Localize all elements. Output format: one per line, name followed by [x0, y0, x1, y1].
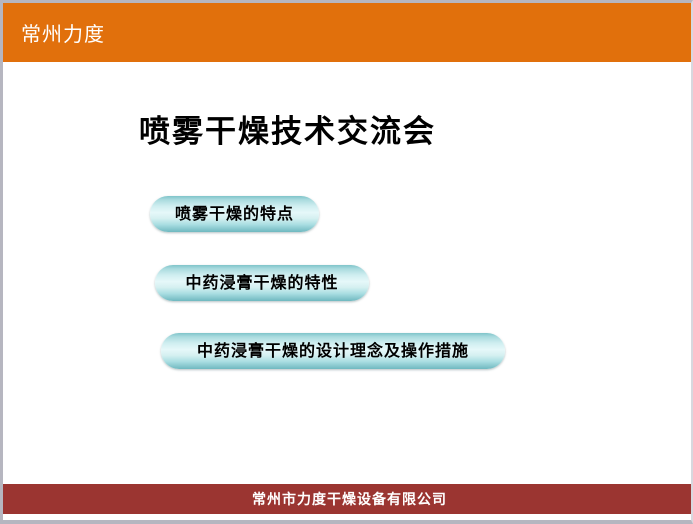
- agenda-item-3-label: 中药浸膏干燥的设计理念及操作措施: [197, 343, 469, 359]
- agenda-item-2[interactable]: 中药浸膏干燥的特性: [155, 265, 369, 301]
- slide-header-band: 常州力度: [3, 3, 693, 62]
- slide-footer-band: 常州市力度干燥设备有限公司: [3, 484, 693, 514]
- agenda-item-1-label: 喷雾干燥的特点: [175, 206, 294, 222]
- company-name: 常州市力度干燥设备有限公司: [252, 489, 447, 509]
- agenda-item-1[interactable]: 喷雾干燥的特点: [150, 196, 319, 232]
- brand-name: 常州力度: [21, 18, 105, 47]
- agenda-item-2-label: 中药浸膏干燥的特性: [185, 275, 338, 291]
- presentation-slide: 常州力度 喷雾干燥技术交流会 喷雾干燥的特点 中药浸膏干燥的特性 中药浸膏干燥的…: [0, 0, 693, 524]
- slide-title: 喷雾干燥技术交流会: [3, 106, 693, 151]
- slide-title-text: 喷雾干燥技术交流会: [139, 106, 436, 151]
- agenda-item-3[interactable]: 中药浸膏干燥的设计理念及操作措施: [161, 333, 505, 369]
